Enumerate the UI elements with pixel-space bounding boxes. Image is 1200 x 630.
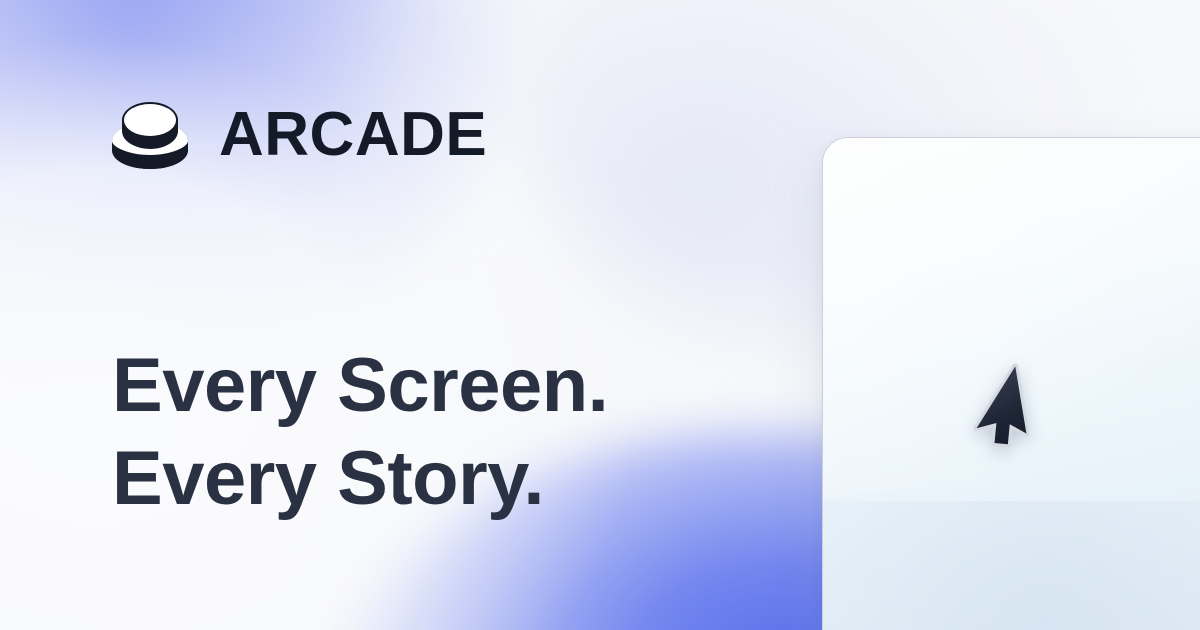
- arrow-pointer-cursor-icon: [966, 362, 1048, 450]
- card-tint: [822, 501, 1200, 630]
- arcade-puck-logo-icon: [108, 100, 192, 170]
- headline: Every Screen. Every Story.: [112, 340, 608, 525]
- og-banner: ARCADE Every Screen. Every Story.: [0, 0, 1200, 630]
- headline-line-2: Every Story.: [112, 433, 608, 526]
- brand-wordmark: ARCADE: [219, 104, 487, 166]
- headline-line-1: Every Screen.: [112, 340, 608, 433]
- brand-lockup: ARCADE: [108, 100, 487, 170]
